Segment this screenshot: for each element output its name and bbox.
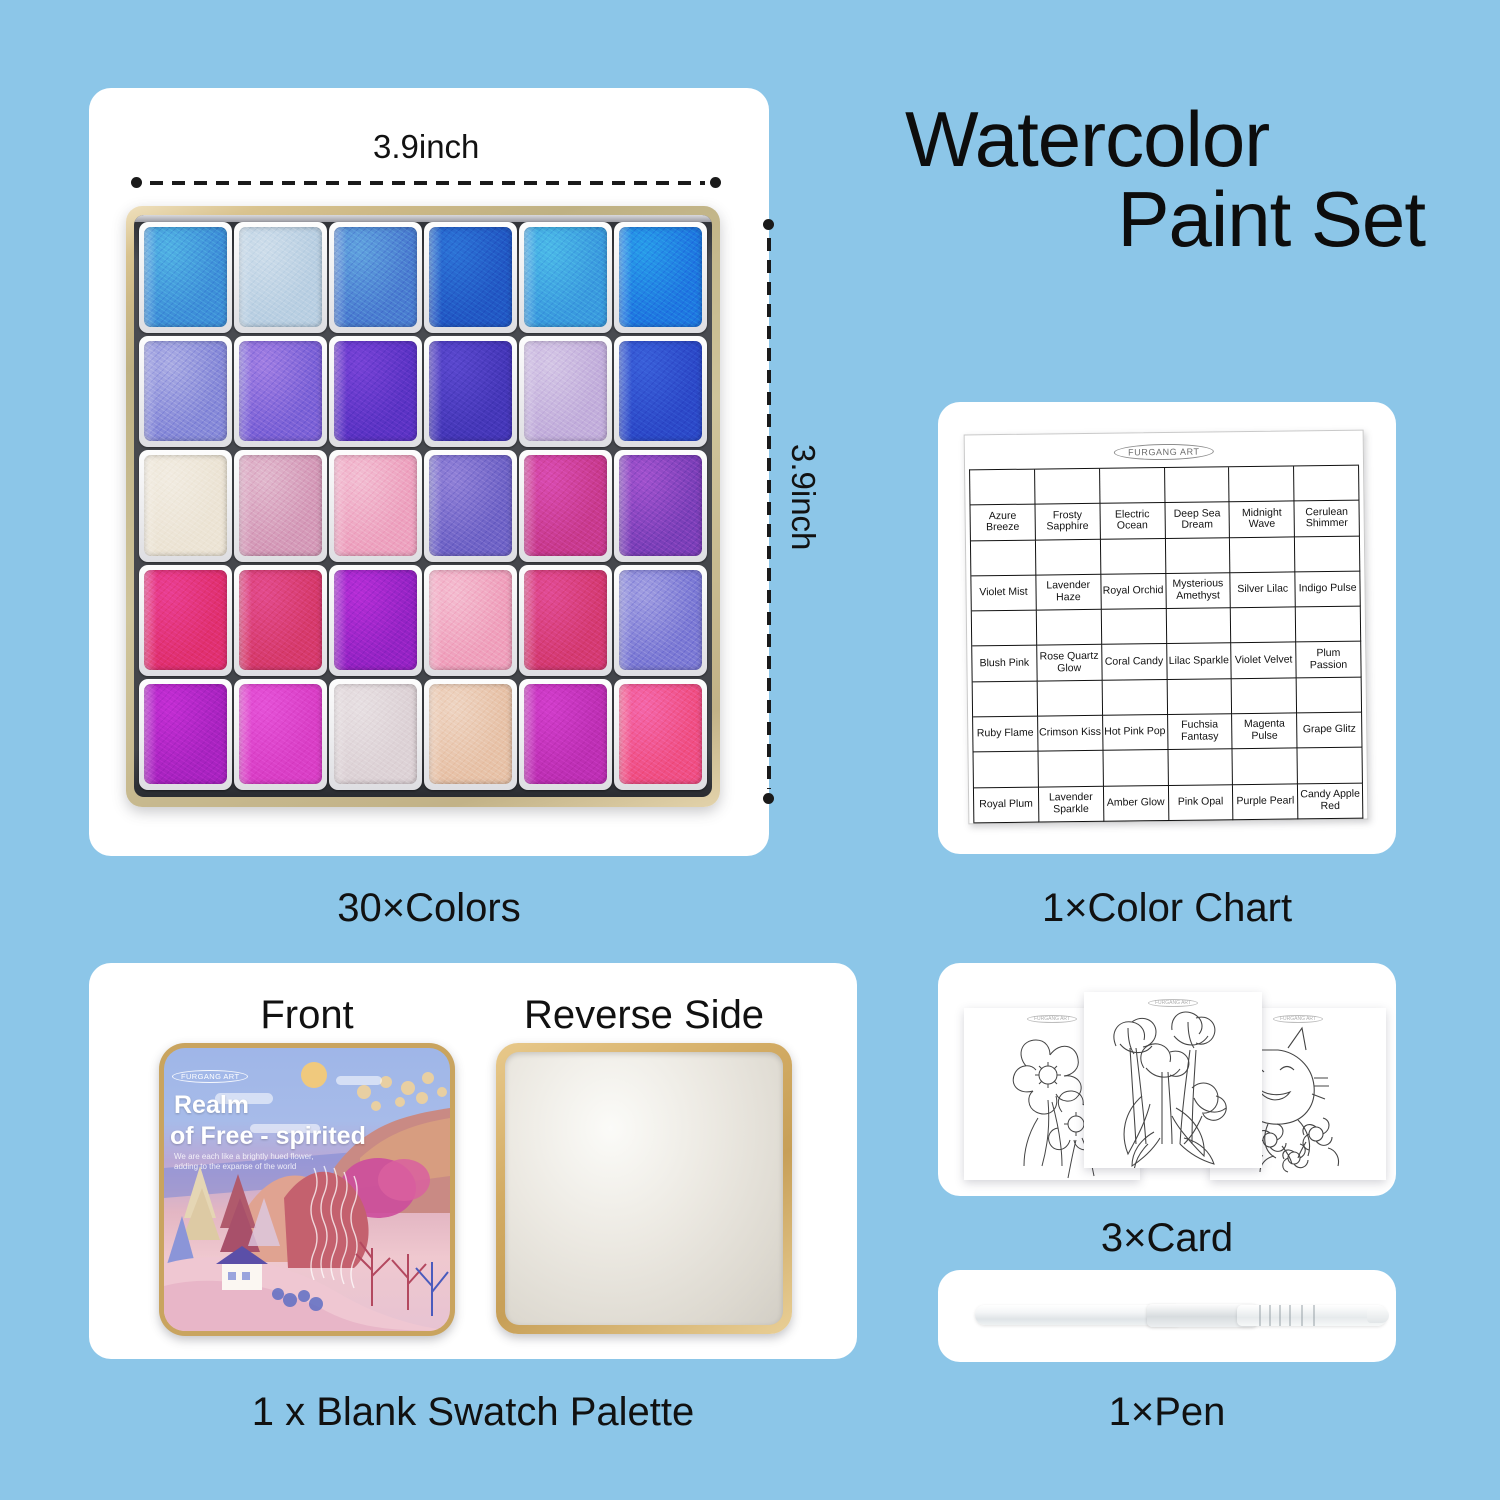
chart-label-cell: Violet Mist	[971, 575, 1036, 611]
paint-pan-cell	[329, 679, 422, 790]
chart-swatch-cell	[1233, 749, 1298, 785]
chart-swatch-cell	[974, 752, 1039, 788]
dimension-right-label: 3.9inch	[784, 444, 822, 550]
chart-label-cell: Fuchsia Fantasy	[1168, 714, 1233, 750]
chart-label-cell: Deep Sea Dream	[1165, 503, 1230, 539]
chart-label-cell: Hot Pink Pop	[1103, 715, 1168, 751]
swatch-palette-reverse	[496, 1043, 792, 1334]
paint-pan-purple-pearl	[524, 684, 607, 784]
pen-body	[975, 1301, 1375, 1329]
paint-pan-cell	[614, 565, 707, 676]
paint-pan-crimson-kiss	[239, 570, 322, 670]
chart-swatch-cell	[1167, 679, 1232, 715]
pen-rings	[1257, 1305, 1317, 1326]
chart-swatch-cell	[1100, 468, 1165, 504]
paint-pan-cell	[424, 679, 517, 790]
swatch-palette-front: FURGANG ART Realm of Free - spirited We …	[159, 1043, 455, 1336]
paint-pan-cell	[234, 222, 327, 333]
chart-label-cell: Plum Passion	[1296, 642, 1361, 678]
dim-top-dot-left	[131, 177, 142, 188]
dim-right-dot-bottom	[763, 793, 774, 804]
chart-swatch-cell	[971, 540, 1036, 576]
color-chart-card: FURGANG ART Azure BreezeFrosty SapphireE…	[964, 430, 1369, 825]
chart-swatch-cell	[970, 470, 1035, 506]
chart-swatch-cell	[1035, 469, 1100, 505]
paint-pan-fuchsia-fantasy	[429, 570, 512, 670]
paint-tin	[126, 206, 720, 807]
front-label: Front	[159, 993, 455, 1038]
pen-tail	[1367, 1308, 1389, 1323]
dim-right-dot-top	[763, 219, 774, 230]
chart-swatch-cell	[1298, 748, 1363, 784]
chart-swatch-cell	[1038, 751, 1103, 787]
chart-swatch-cell	[1229, 466, 1294, 502]
chart-label-cell: Silver Lilac	[1231, 572, 1296, 608]
chart-label-cell: Crimson Kiss	[1038, 716, 1103, 752]
paint-pan-cell	[139, 679, 232, 790]
swatch-palette-reverse-surface	[505, 1052, 783, 1325]
paint-pan-cell	[139, 222, 232, 333]
chart-label-cell: Midnight Wave	[1230, 502, 1295, 538]
chart-swatch-cell	[1101, 609, 1166, 645]
dimension-right-line	[767, 238, 771, 789]
cards-caption: 3×Card	[938, 1216, 1396, 1261]
page-title: Watercolor Paint Set	[905, 100, 1435, 259]
chart-swatch-cell	[972, 611, 1037, 647]
paint-pan-cell	[614, 222, 707, 333]
paint-pan-violet-mist	[144, 341, 227, 441]
chart-swatch-cell	[1037, 610, 1102, 646]
chart-swatch-cell	[1101, 539, 1166, 575]
palette-caption: 30×Colors	[89, 886, 769, 931]
paint-pan-silver-lilac	[524, 341, 607, 441]
chart-label-cell: Royal Plum	[974, 787, 1039, 823]
title-line-1: Watercolor	[905, 100, 1435, 180]
paint-pan-indigo-pulse	[619, 341, 702, 441]
paint-pan-frosty-sapphire	[239, 227, 322, 327]
paint-pan-cell	[234, 565, 327, 676]
cover-subtitle: We are each like a brightly hued flower,…	[174, 1152, 324, 1173]
brand-logo-oval: FURGANG ART	[1114, 443, 1214, 460]
color-chart-table: Azure BreezeFrosty SapphireElectric Ocea…	[969, 465, 1363, 824]
tin-inner-tray	[134, 215, 712, 797]
chart-label-cell: Mysterious Amethyst	[1166, 573, 1231, 609]
paint-pan-lavender-haze	[239, 341, 322, 441]
paint-pan-cell	[139, 565, 232, 676]
chart-label-cell: Lavender Sparkle	[1039, 786, 1104, 822]
cloud-shape	[336, 1076, 382, 1085]
paint-pan-cell	[329, 222, 422, 333]
paint-pan-cell	[519, 565, 612, 676]
paint-pan-coral-candy	[334, 455, 417, 555]
chart-label-cell: Candy Apple Red	[1298, 783, 1363, 819]
paint-pan-blush-pink	[144, 455, 227, 555]
chart-swatch-cell	[1165, 467, 1230, 503]
chart-label-cell: Lilac Sparkle	[1167, 644, 1232, 680]
chart-label-cell: Royal Orchid	[1101, 574, 1166, 610]
paint-pan-electric-ocean	[334, 227, 417, 327]
paint-pan-cell	[139, 336, 232, 447]
chart-swatch-cell	[1103, 750, 1168, 786]
paint-pan-cell	[329, 336, 422, 447]
chart-label-cell: Cerulean Shimmer	[1295, 501, 1360, 537]
paint-pan-grape-glitz	[619, 570, 702, 670]
cover-title-line-1: Realm	[174, 1091, 249, 1120]
paint-pan-rose-quartz-glow	[239, 455, 322, 555]
chart-swatch-cell	[1102, 680, 1167, 716]
card-stack: FURGANG ART	[960, 980, 1390, 1200]
tulip-line-art	[1084, 992, 1262, 1168]
paint-pan-cell	[329, 565, 422, 676]
chart-swatch-cell	[1036, 539, 1101, 575]
paint-pan-violet-velvet	[524, 455, 607, 555]
cover-artwork: FURGANG ART Realm of Free - spirited We …	[164, 1048, 450, 1331]
chart-label-cell: Indigo Pulse	[1295, 572, 1360, 608]
paint-pan-cell	[519, 679, 612, 790]
paint-pan-magenta-pulse	[524, 570, 607, 670]
paint-pan-lavender-sparkle	[239, 684, 322, 784]
chart-label-cell: Electric Ocean	[1100, 503, 1165, 539]
paint-pan-cell	[614, 336, 707, 447]
paint-pan-cell	[424, 336, 517, 447]
paint-pan-cell	[234, 336, 327, 447]
paint-pan-cell	[519, 450, 612, 561]
paint-pan-cell	[424, 450, 517, 561]
chart-swatch-cell	[973, 681, 1038, 717]
chart-label-cell: Magenta Pulse	[1232, 713, 1297, 749]
dimension-top-label: 3.9inch	[373, 128, 479, 166]
chart-label-cell: Purple Pearl	[1233, 784, 1298, 820]
paint-pan-cell	[424, 565, 517, 676]
pen-caption: 1×Pen	[938, 1390, 1396, 1435]
chart-swatch-cell	[1168, 750, 1233, 786]
chart-swatch-cell	[1232, 678, 1297, 714]
paint-pan-cerulean-shimmer	[619, 227, 702, 327]
paint-pan-mysterious-amethyst	[429, 341, 512, 441]
water-brush-pen	[955, 1285, 1395, 1347]
paint-pan-royal-orchid	[334, 341, 417, 441]
paint-pan-deep-sea-dream	[429, 227, 512, 327]
cover-title-line-2: of Free - spirited	[170, 1122, 366, 1151]
chart-swatch-cell	[1294, 466, 1359, 502]
dimension-top-line	[150, 181, 705, 185]
chart-label-cell: Blush Pink	[972, 646, 1037, 682]
paint-pan-pink-opal	[429, 684, 512, 784]
paint-pan-lilac-sparkle	[429, 455, 512, 555]
chart-swatch-cell	[1165, 538, 1230, 574]
chart-label-cell: Coral Candy	[1102, 644, 1167, 680]
chart-label-cell: Violet Velvet	[1232, 643, 1297, 679]
chart-swatch-cell	[1295, 536, 1360, 572]
card-tulip-flowers: FURGANG ART	[1084, 992, 1262, 1168]
paint-pan-plum-passion	[619, 455, 702, 555]
chart-label-cell: Frosty Sapphire	[1035, 504, 1100, 540]
paint-pan-cell	[234, 679, 327, 790]
paint-pan-cell	[139, 450, 232, 561]
chart-label-cell: Amber Glow	[1104, 786, 1169, 822]
paint-pan-cell	[614, 679, 707, 790]
chart-label-cell: Grape Glitz	[1297, 713, 1362, 749]
chart-swatch-cell	[1230, 537, 1295, 573]
chart-brand: FURGANG ART	[969, 435, 1359, 470]
paint-pan-cell	[519, 222, 612, 333]
chart-label-cell: Azure Breeze	[971, 505, 1036, 541]
paint-pan-ruby-flame	[144, 570, 227, 670]
color-chart-caption: 1×Color Chart	[938, 886, 1396, 931]
chart-label-cell: Pink Opal	[1168, 785, 1233, 821]
paint-pan-candy-apple-red	[619, 684, 702, 784]
chart-swatch-cell	[1037, 681, 1102, 717]
reverse-label: Reverse Side	[496, 993, 792, 1038]
chart-swatch-cell	[1296, 607, 1361, 643]
chart-swatch-cell	[1231, 608, 1296, 644]
dim-top-dot-right	[710, 177, 721, 188]
title-line-2: Paint Set	[905, 180, 1435, 260]
paint-pan-hot-pink-pop	[334, 570, 417, 670]
product-infographic: Watercolor Paint Set 3.9inch 3.9inch 30×…	[0, 0, 1500, 1500]
paint-pan-cell	[519, 336, 612, 447]
swatch-palette-caption: 1 x Blank Swatch Palette	[89, 1390, 857, 1435]
paint-pan-cell	[614, 450, 707, 561]
paint-pan-cell	[329, 450, 422, 561]
chart-label-cell: Rose Quartz Glow	[1037, 645, 1102, 681]
cover-brand: FURGANG ART	[172, 1070, 248, 1083]
chart-swatch-cell	[1297, 677, 1362, 713]
chart-label-cell: Ruby Flame	[973, 717, 1038, 753]
paint-pan-amber-glow	[334, 684, 417, 784]
paint-pan-royal-plum	[144, 684, 227, 784]
paint-pan-cell	[234, 450, 327, 561]
paint-pan-cell	[424, 222, 517, 333]
paint-pan-midnight-wave	[524, 227, 607, 327]
chart-swatch-cell	[1166, 608, 1231, 644]
chart-label-cell: Lavender Haze	[1036, 575, 1101, 611]
paint-pan-grid	[139, 222, 707, 790]
paint-pan-azure-breeze	[144, 227, 227, 327]
